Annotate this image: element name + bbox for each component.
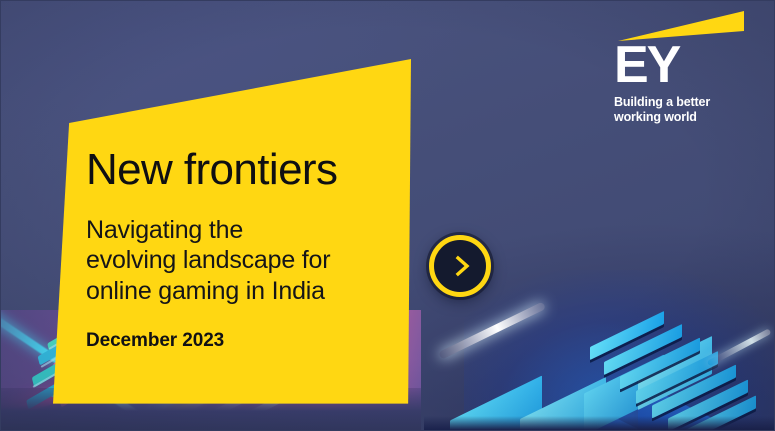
ey-tagline-line-2: working world bbox=[614, 110, 744, 125]
publication-date: December 2023 bbox=[86, 330, 396, 352]
next-button[interactable] bbox=[429, 235, 491, 297]
ey-tagline-line-1: Building a better bbox=[614, 95, 744, 110]
page-subtitle: Navigating the evolving landscape for on… bbox=[86, 215, 396, 307]
ey-wordmark: EY bbox=[614, 41, 744, 90]
ey-logo: EY Building a better working world bbox=[614, 9, 744, 124]
ey-tagline: Building a better working world bbox=[614, 95, 744, 124]
report-cover: New frontiers Navigating the evolving la… bbox=[0, 0, 775, 431]
subtitle-line-1: Navigating the bbox=[86, 215, 396, 246]
page-title: New frontiers bbox=[86, 147, 396, 193]
subtitle-line-3: online gaming in India bbox=[86, 276, 396, 307]
title-block: New frontiers Navigating the evolving la… bbox=[86, 147, 396, 352]
subtitle-line-2: evolving landscape for bbox=[86, 245, 396, 276]
chevron-right-icon bbox=[450, 254, 474, 278]
